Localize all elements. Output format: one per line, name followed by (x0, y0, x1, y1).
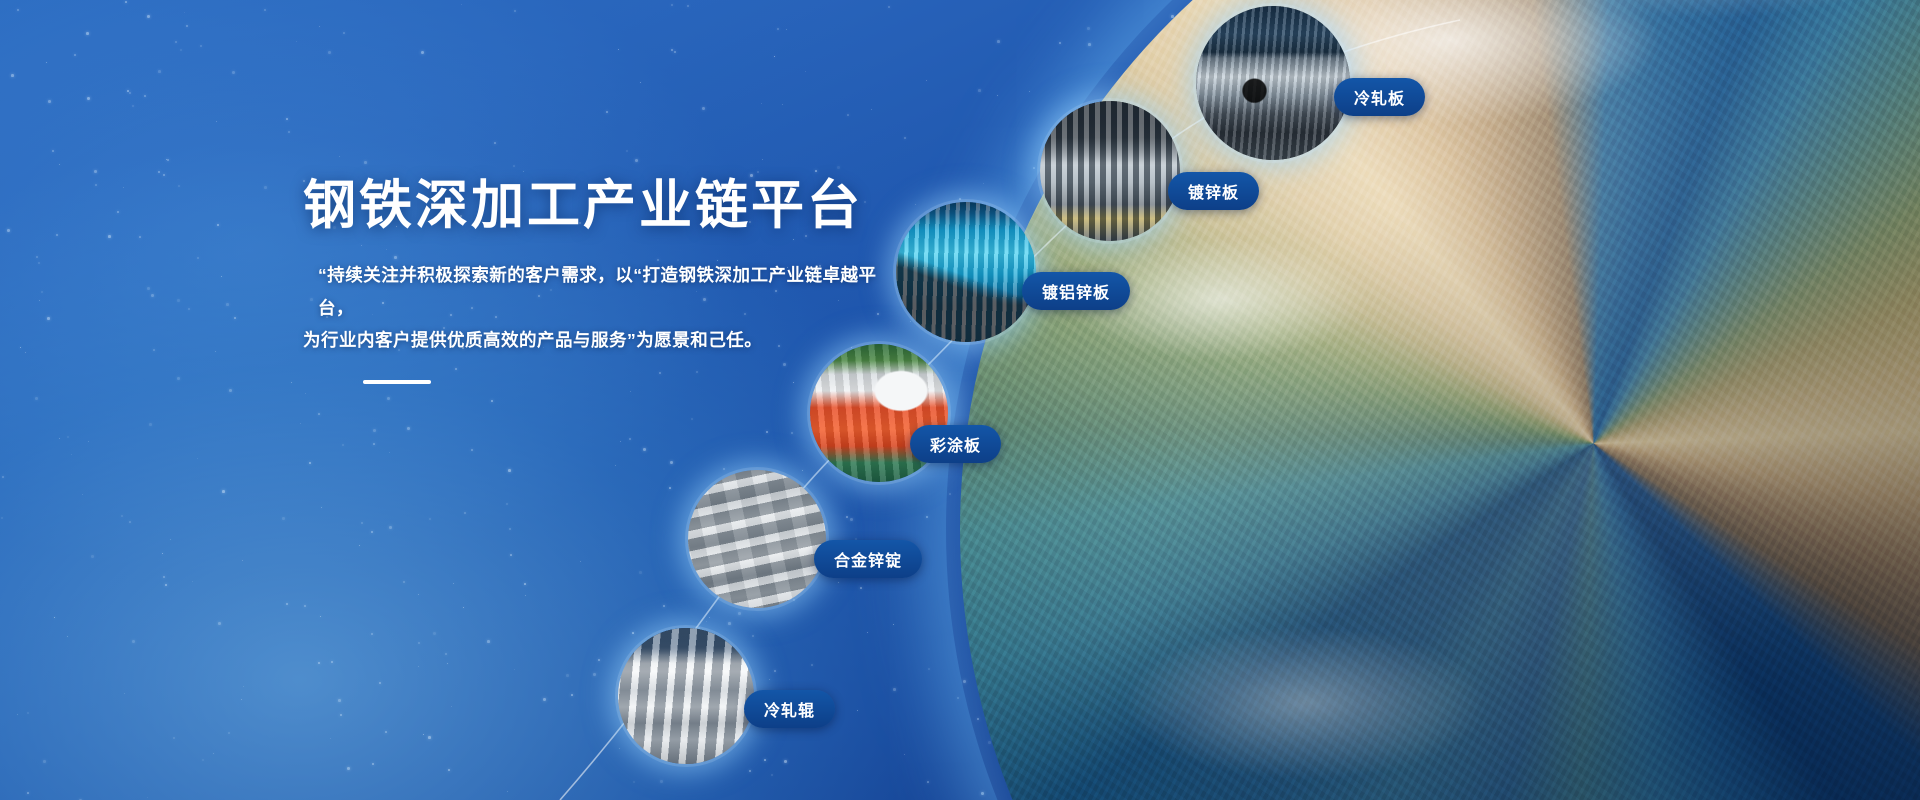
banner-subtitle: “持续关注并积极探索新的客户需求，以“打造钢铁深加工产业链卓越平台， 为行业内客… (303, 259, 903, 356)
product-label-cold-rolled-sheet[interactable]: 冷轧板 (1334, 78, 1425, 116)
zinc-ingots-image (688, 470, 826, 608)
cold-rolling-rolls-photo[interactable] (618, 628, 754, 764)
page-title: 钢铁深加工产业链平台 (303, 176, 903, 235)
product-label-zinc-alloy-ingot[interactable]: 合金锌锭 (814, 540, 922, 578)
steel-coils-image (1196, 6, 1350, 160)
subtitle-line-1: “持续关注并积极探索新的客户需求，以“打造钢铁深加工产业链卓越平台， (303, 259, 903, 324)
galvanized-warehouse-photo[interactable] (1040, 101, 1180, 241)
title-underline-rule (363, 380, 431, 384)
hero-banner: 钢铁深加工产业链平台 “持续关注并积极探索新的客户需求，以“打造钢铁深加工产业链… (0, 0, 1920, 800)
product-label-color-coated-sheet[interactable]: 彩涂板 (910, 425, 1001, 463)
aluzinc-coil-image (896, 202, 1036, 342)
galvanized-warehouse-image (1040, 101, 1180, 241)
steel-coils-photo[interactable] (1196, 6, 1350, 160)
product-label-galvanized-sheet[interactable]: 镀锌板 (1168, 172, 1259, 210)
cold-rolling-rolls-image (618, 628, 754, 764)
zinc-ingots-photo[interactable] (688, 470, 826, 608)
product-label-aluzinc-sheet[interactable]: 镀铝锌板 (1022, 272, 1130, 310)
product-label-cold-rolling-roll[interactable]: 冷轧辊 (744, 690, 835, 728)
aluzinc-coil-photo[interactable] (896, 202, 1036, 342)
